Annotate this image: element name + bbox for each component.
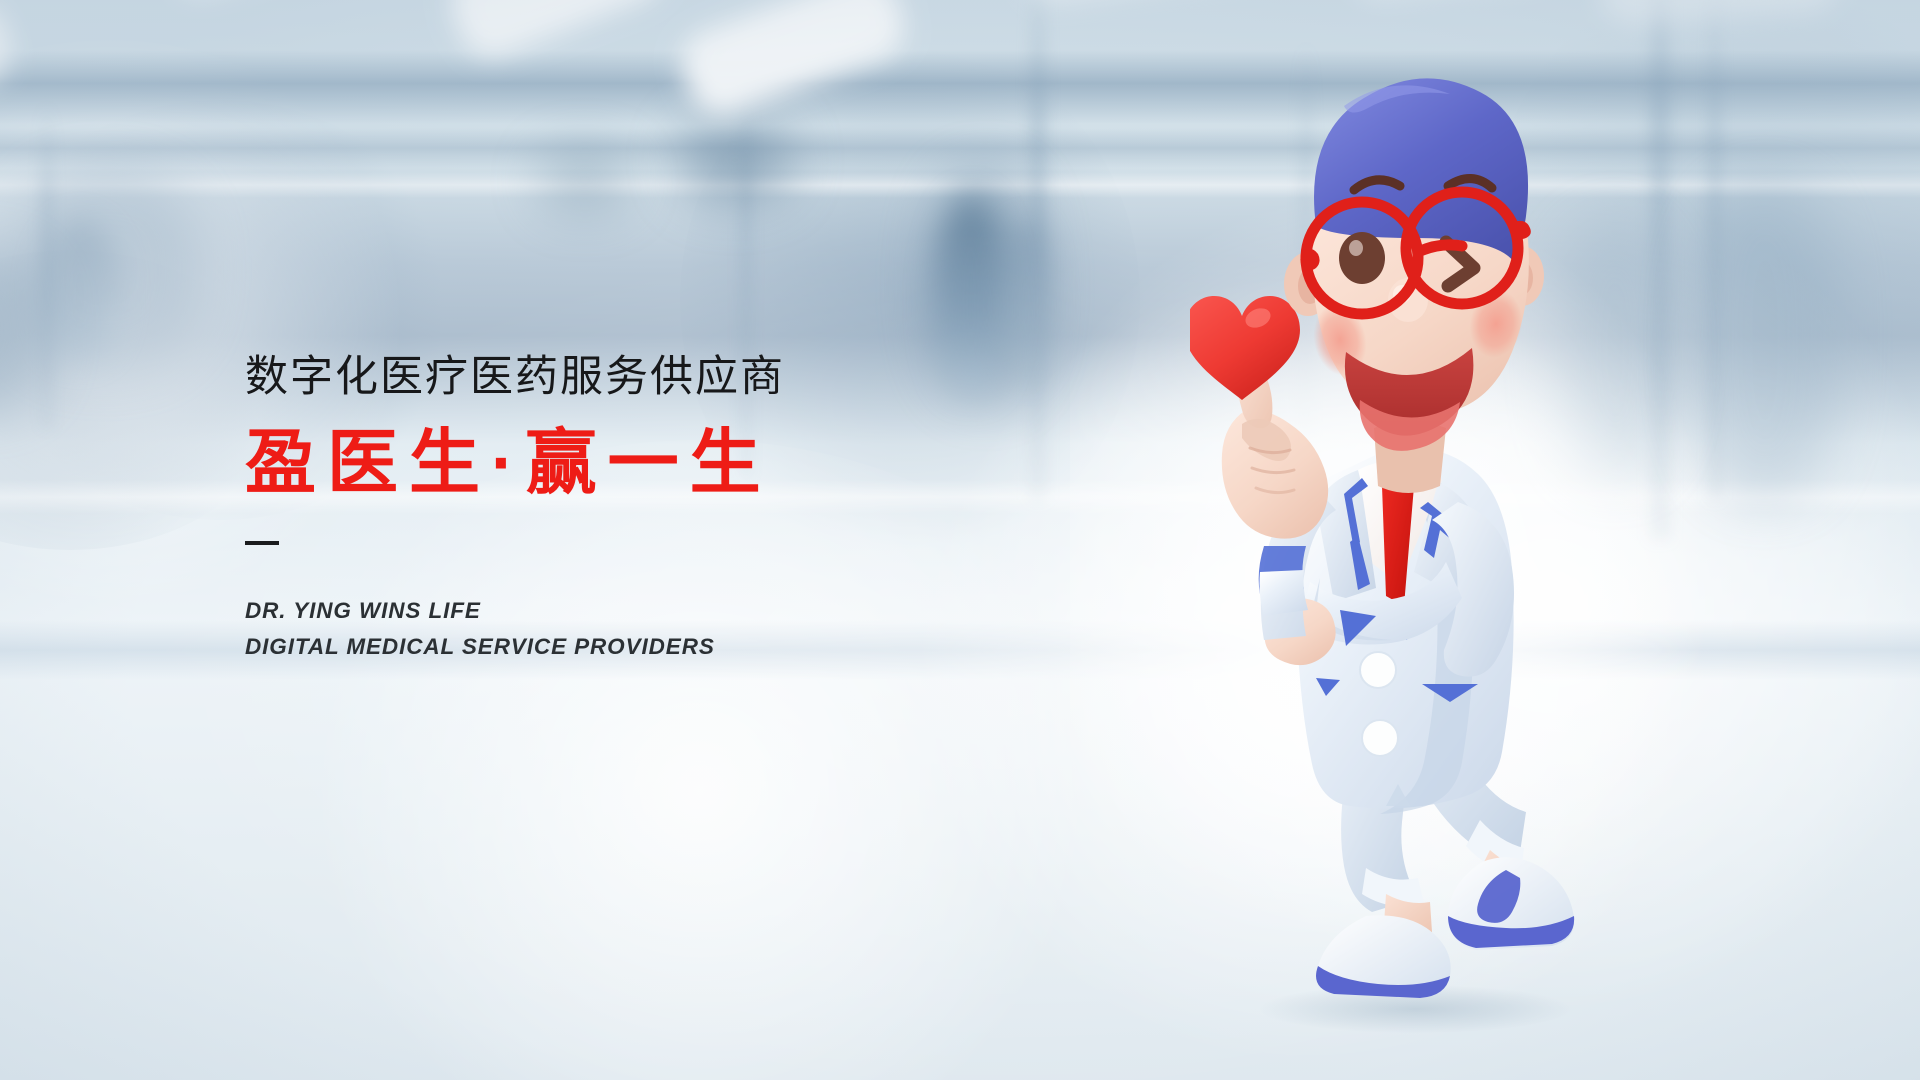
character-head xyxy=(1284,78,1544,451)
hero-eyebrow: 数字化医疗医药服务供应商 xyxy=(245,356,1005,399)
hero-copy-block: 数字化医疗医药服务供应商 盈医生·赢一生 DR. YING WINS LIFE … xyxy=(245,356,1005,664)
floating-heart-icon xyxy=(1190,296,1300,400)
hero-subtitle-line-2: DIGITAL MEDICAL SERVICE PROVIDERS xyxy=(245,629,1005,665)
hero-headline: 盈医生·赢一生 xyxy=(245,428,1005,499)
hero-subtitle-block: DR. YING WINS LIFE DIGITAL MEDICAL SERVI… xyxy=(245,593,1005,664)
character-open-eye xyxy=(1339,232,1385,284)
hero-divider-rule xyxy=(245,541,279,545)
doctor-mascot-svg xyxy=(1190,50,1620,1060)
hero-banner: 数字化医疗医药服务供应商 盈医生·赢一生 DR. YING WINS LIFE … xyxy=(0,0,1920,1080)
doctor-mascot-illustration xyxy=(1190,50,1620,1060)
hero-subtitle-line-1: DR. YING WINS LIFE xyxy=(245,593,1005,629)
